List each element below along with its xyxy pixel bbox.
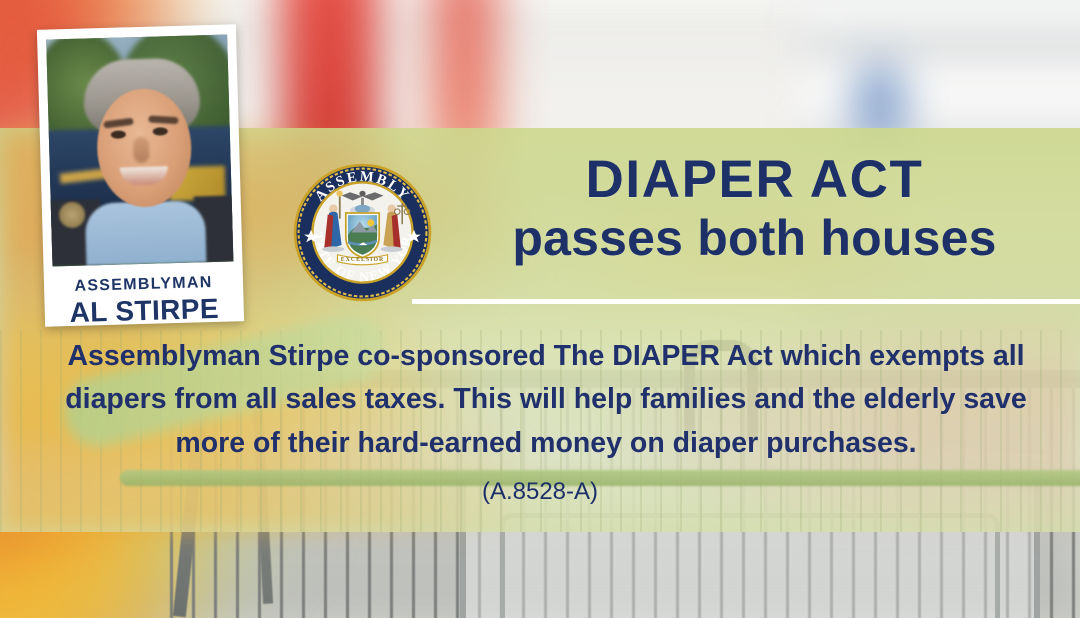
assemblyman-portrait-photo (46, 35, 233, 267)
portrait-shirt (85, 200, 207, 265)
photo-caption-name: AL STIRPE (53, 293, 235, 327)
headline-line-1: DIAPER ACT (455, 153, 1054, 206)
bill-number: (A.8528-A) (0, 478, 1080, 506)
headline: DIAPER ACT passes both houses (455, 153, 1054, 263)
assembly-seal-icon: ASSEMBLY STATE OF NEW YORK (293, 163, 432, 302)
body-text: Assemblyman Stirpe co-sponsored The DIAP… (60, 335, 1032, 465)
photo-caption: ASSEMBLYMAN AL STIRPE (53, 261, 236, 327)
assemblyman-photo-card: ASSEMBLYMAN AL STIRPE (37, 24, 244, 326)
portrait-nose (133, 137, 150, 163)
poster: ASSEMBLYMAN AL STIRPE ASSEMBLY (0, 0, 1080, 618)
headline-line-2: passes both houses (455, 213, 1054, 263)
divider-rule (412, 299, 1080, 304)
svg-text:EXCELSIOR: EXCELSIOR (341, 257, 384, 263)
